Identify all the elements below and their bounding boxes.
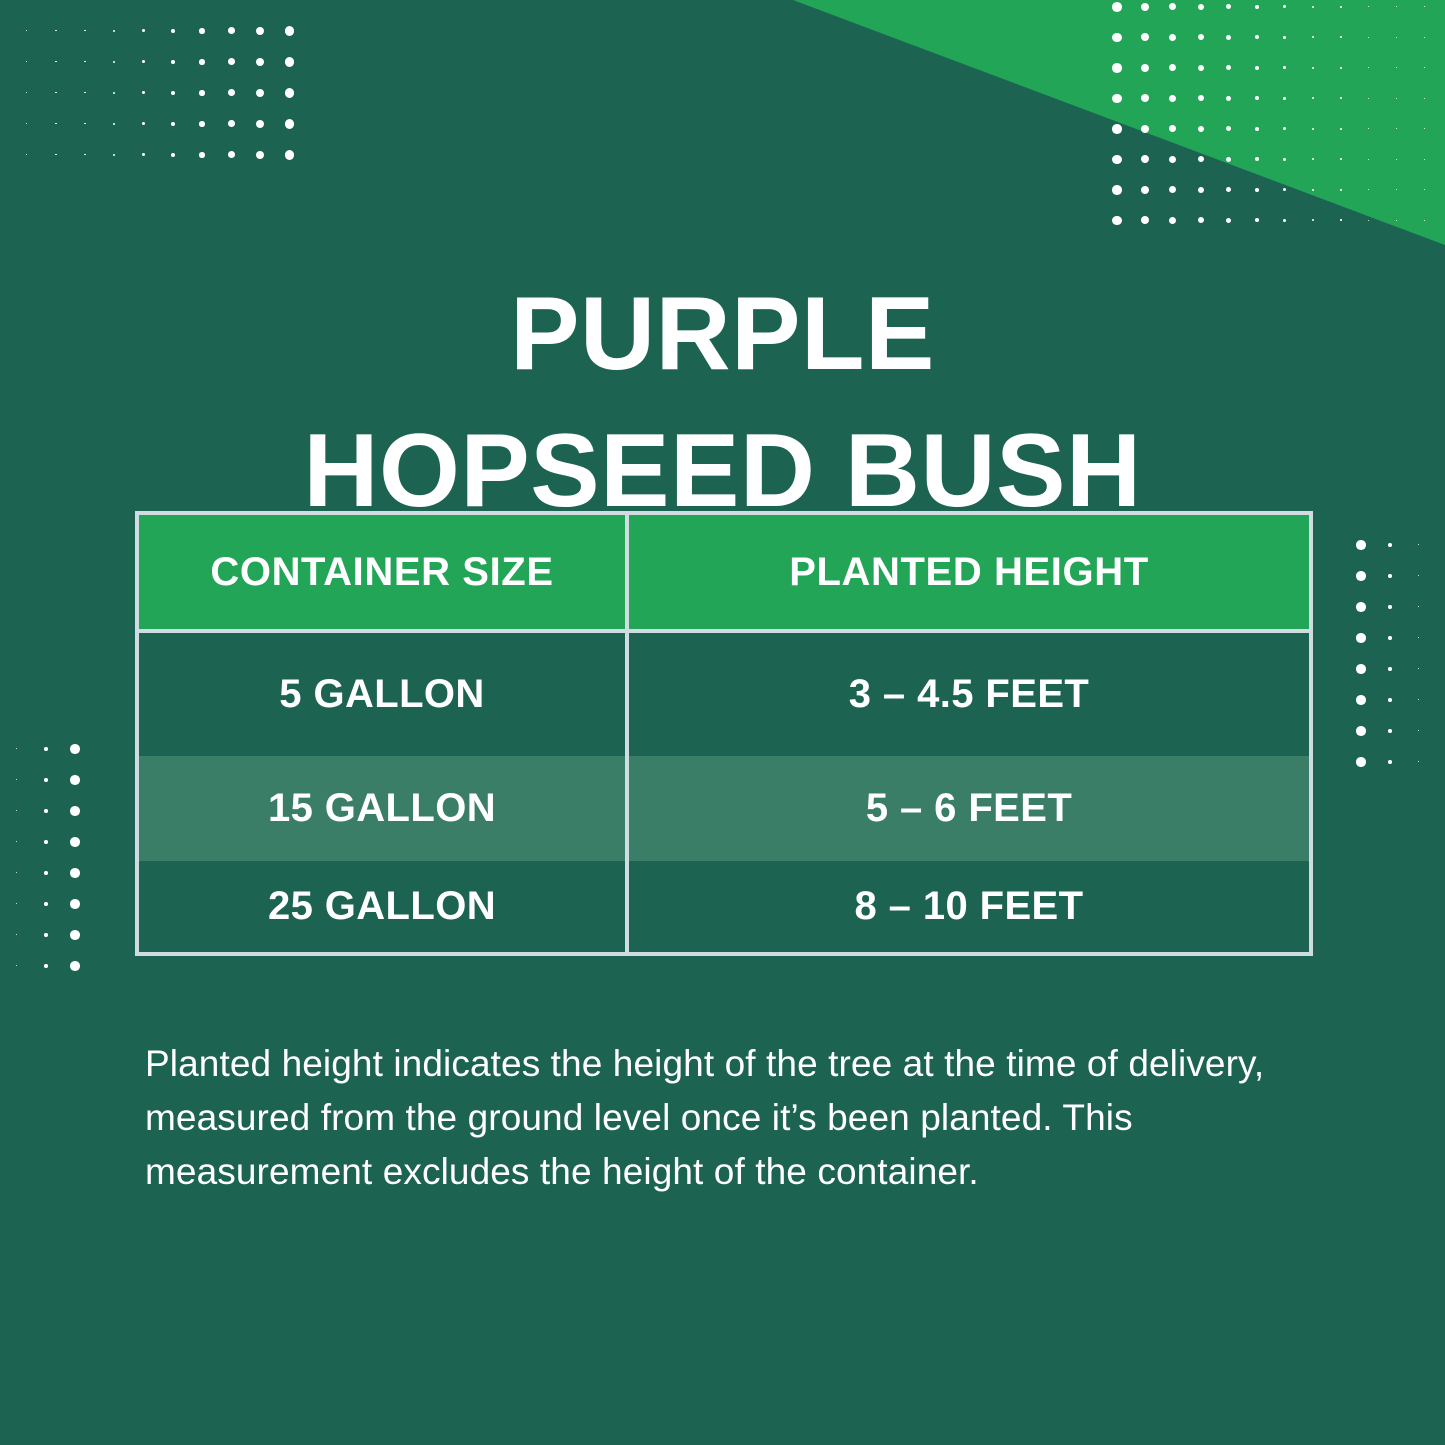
table-row: 25 GALLON 8 – 10 FEET (139, 861, 1309, 952)
table-header-planted-height: PLANTED HEIGHT (629, 515, 1309, 629)
table-header-row: CONTAINER SIZE PLANTED HEIGHT (139, 515, 1309, 633)
table-header-container-size: CONTAINER SIZE (139, 515, 629, 629)
dot-grid-top-left-decoration (22, 26, 312, 176)
footnote-text: Planted height indicates the height of t… (145, 1037, 1305, 1199)
cell-container-size: 15 GALLON (139, 756, 629, 861)
dot-grid-right-decoration (1356, 540, 1436, 780)
cell-container-size: 5 GALLON (139, 633, 629, 756)
table-row: 15 GALLON 5 – 6 FEET (139, 756, 1309, 861)
dot-grid-left-decoration (12, 744, 102, 969)
cell-planted-height: 8 – 10 FEET (629, 861, 1309, 952)
cell-container-size: 25 GALLON (139, 861, 629, 952)
page-title-line-1: PURPLE (120, 266, 1325, 403)
table-row: 5 GALLON 3 – 4.5 FEET (139, 633, 1309, 756)
cell-planted-height: 3 – 4.5 FEET (629, 633, 1309, 756)
page-title: PURPLE HOPSEED BUSH (0, 266, 1445, 541)
table-body: 5 GALLON 3 – 4.5 FEET 15 GALLON 5 – 6 FE… (139, 633, 1309, 952)
container-size-table: CONTAINER SIZE PLANTED HEIGHT 5 GALLON 3… (135, 511, 1313, 956)
accent-triangle-decoration (793, 0, 1445, 245)
poster-canvas: PURPLE HOPSEED BUSH CONTAINER SIZE PLANT… (0, 0, 1445, 1445)
cell-planted-height: 5 – 6 FEET (629, 756, 1309, 861)
